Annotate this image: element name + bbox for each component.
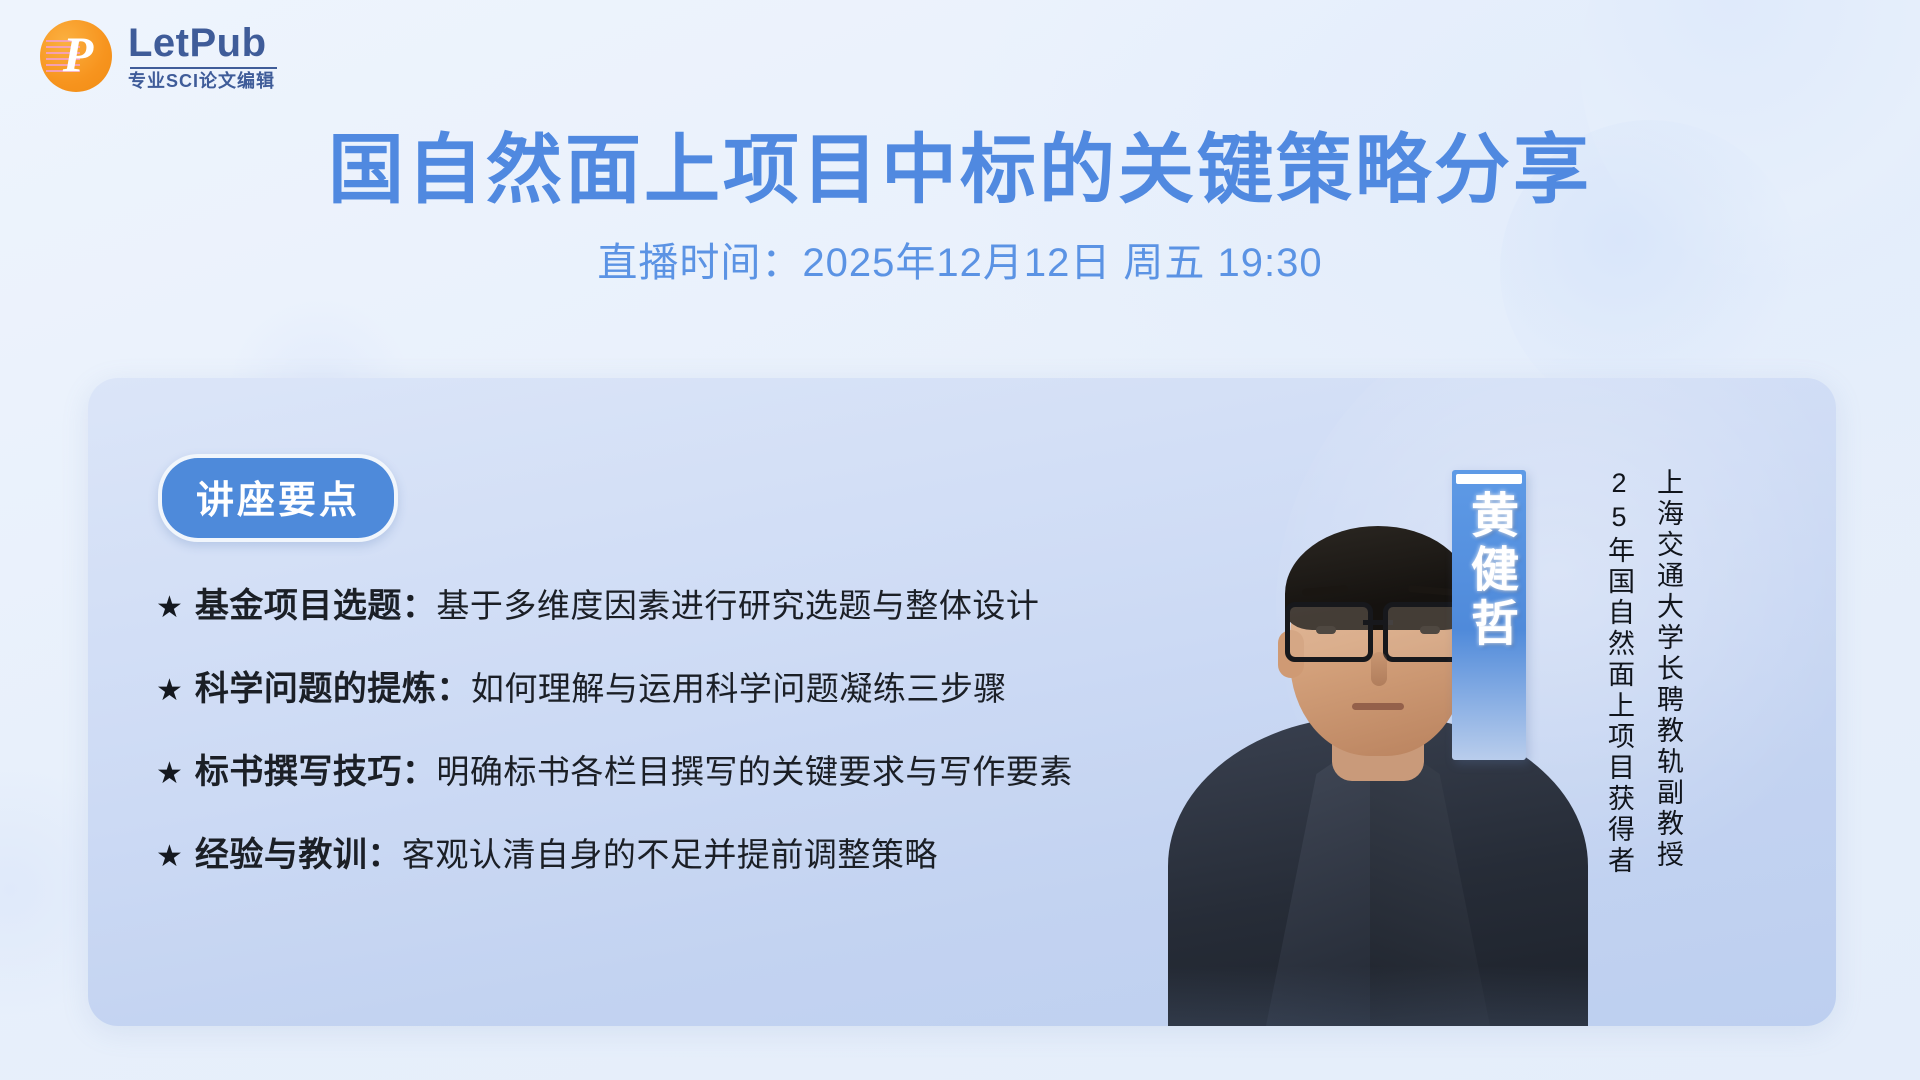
brand-logo[interactable]: P LetPub 专业SCI论文编辑	[40, 20, 275, 92]
speaker-name-banner: 黄健哲	[1452, 470, 1526, 760]
brand-tagline: 专业SCI论文编辑	[128, 72, 275, 90]
poster-canvas: P LetPub 专业SCI论文编辑 国自然面上项目中标的关键策略分享 直播时间…	[0, 0, 1920, 1080]
page-title: 国自然面上项目中标的关键策略分享	[0, 130, 1920, 212]
credential-line: 25年国自然面上项目获得者	[1600, 468, 1639, 877]
letpub-p-logo-icon: P	[40, 20, 112, 92]
star-icon: ★	[156, 593, 183, 623]
star-icon: ★	[156, 676, 183, 706]
section-badge-highlights: 讲座要点	[158, 454, 398, 542]
badge-container: 讲座要点	[158, 454, 398, 542]
star-icon: ★	[156, 759, 183, 789]
glasses-lens-left	[1285, 602, 1373, 662]
speaker-credentials: 25年国自然面上项目获得者 上海交通大学长聘教轨副教授	[1600, 468, 1688, 877]
list-item-text: 客观认清自身的不足并提前调整策略	[402, 828, 938, 876]
heading-block: 国自然面上项目中标的关键策略分享 直播时间：2025年12月12日 周五 19:…	[0, 130, 1920, 288]
banner-cap	[1456, 474, 1522, 484]
list-item-title: 经验与教训：	[195, 827, 402, 876]
live-time-subtitle: 直播时间：2025年12月12日 周五 19:30	[0, 230, 1920, 288]
list-item-text: 如何理解与运用科学问题凝练三步骤	[471, 662, 1007, 710]
brand-logo-text: LetPub 专业SCI论文编辑	[128, 23, 275, 90]
list-item-title: 科学问题的提炼：	[195, 661, 471, 710]
list-item-title: 标书撰写技巧：	[195, 744, 437, 793]
brand-divider	[130, 67, 277, 69]
logo-letter-p: P	[63, 29, 94, 79]
list-item-text: 基于多维度因素进行研究选题与整体设计	[436, 579, 1039, 627]
portrait-mouth	[1352, 703, 1404, 710]
speaker-block: 黄健哲 25年国自然面上项目获得者 上海交通大学长聘教轨副教授	[1148, 426, 1708, 1026]
content-card: 讲座要点 ★ 基金项目选题： 基于多维度因素进行研究选题与整体设计 ★ 科学问题…	[88, 378, 1836, 1026]
portrait-base-shadow	[1168, 966, 1588, 1026]
portrait-nose	[1371, 652, 1387, 686]
speaker-name: 黄健哲	[1454, 490, 1524, 652]
list-item-title: 基金项目选题：	[195, 578, 437, 627]
brand-name: LetPub	[128, 23, 275, 63]
glasses-icon	[1285, 602, 1471, 654]
list-item-text: 明确标书各栏目撰写的关键要求与写作要素	[436, 745, 1073, 793]
star-icon: ★	[156, 842, 183, 872]
credential-line: 上海交通大学长聘教轨副教授	[1649, 468, 1688, 877]
